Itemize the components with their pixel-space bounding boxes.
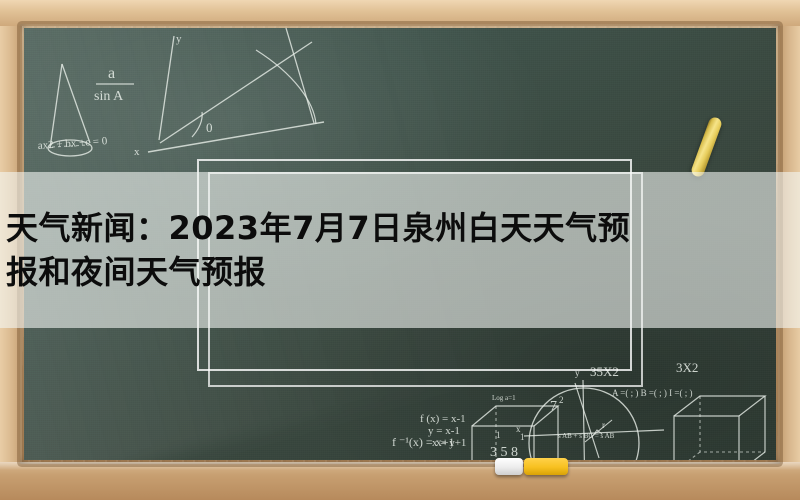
svg-text:7: 7: [550, 399, 557, 414]
svg-text:A =( ; ) B =( ; ) I =( ; ): A =( ; ) B =( ; ) I =( ; ): [612, 388, 692, 398]
svg-text:f ⁻¹(x) = x+1: f ⁻¹(x) = x+1: [392, 435, 454, 449]
frame-top-rail: [0, 0, 800, 26]
inverse-function-group: f ⁻¹(x) = x+1: [392, 435, 454, 449]
svg-text:y: y: [176, 33, 182, 45]
svg-text:r: r: [602, 420, 605, 430]
svg-text:x: x: [134, 146, 140, 158]
chalk-text-quadratic: ax2 + bx +c = 0: [37, 135, 108, 152]
svg-text:1: 1: [496, 430, 501, 440]
svg-text:2: 2: [559, 395, 564, 405]
svg-text:f (x) = x-1: f (x) = x-1: [420, 413, 466, 425]
svg-text:Log a=1: Log a=1: [492, 394, 516, 402]
headline-text-block: 天气新闻：2023年7月7日泉州白天天气预 报和夜间天气预报: [0, 172, 800, 328]
svg-text:3X2: 3X2: [676, 360, 698, 375]
chalk-text-a: a: [108, 65, 115, 82]
svg-text:0: 0: [206, 120, 213, 135]
svg-text:a: a: [408, 456, 413, 460]
white-chalk-piece-icon: [495, 458, 523, 475]
svg-text:1: 1: [520, 432, 525, 442]
chalk-text-sina: sin A: [94, 89, 124, 104]
angle-diagram: y x 0: [134, 28, 324, 158]
cube-2: [674, 396, 765, 460]
frame-bottom-ledge: [0, 462, 800, 500]
yellow-chalk-piece-icon: [524, 458, 568, 475]
headline-line-1: 天气新闻：2023年7月7日泉州白天天气预: [6, 206, 794, 250]
division-digits: 3 5 8 2 7 9 6 3 7 1 1: [486, 430, 532, 460]
blackboard-banner: a sin A ax2 + bx +c = 0 y x 0 f (x) = x-…: [0, 0, 800, 500]
headline-line-2: 报和夜间天气预报: [6, 250, 794, 294]
